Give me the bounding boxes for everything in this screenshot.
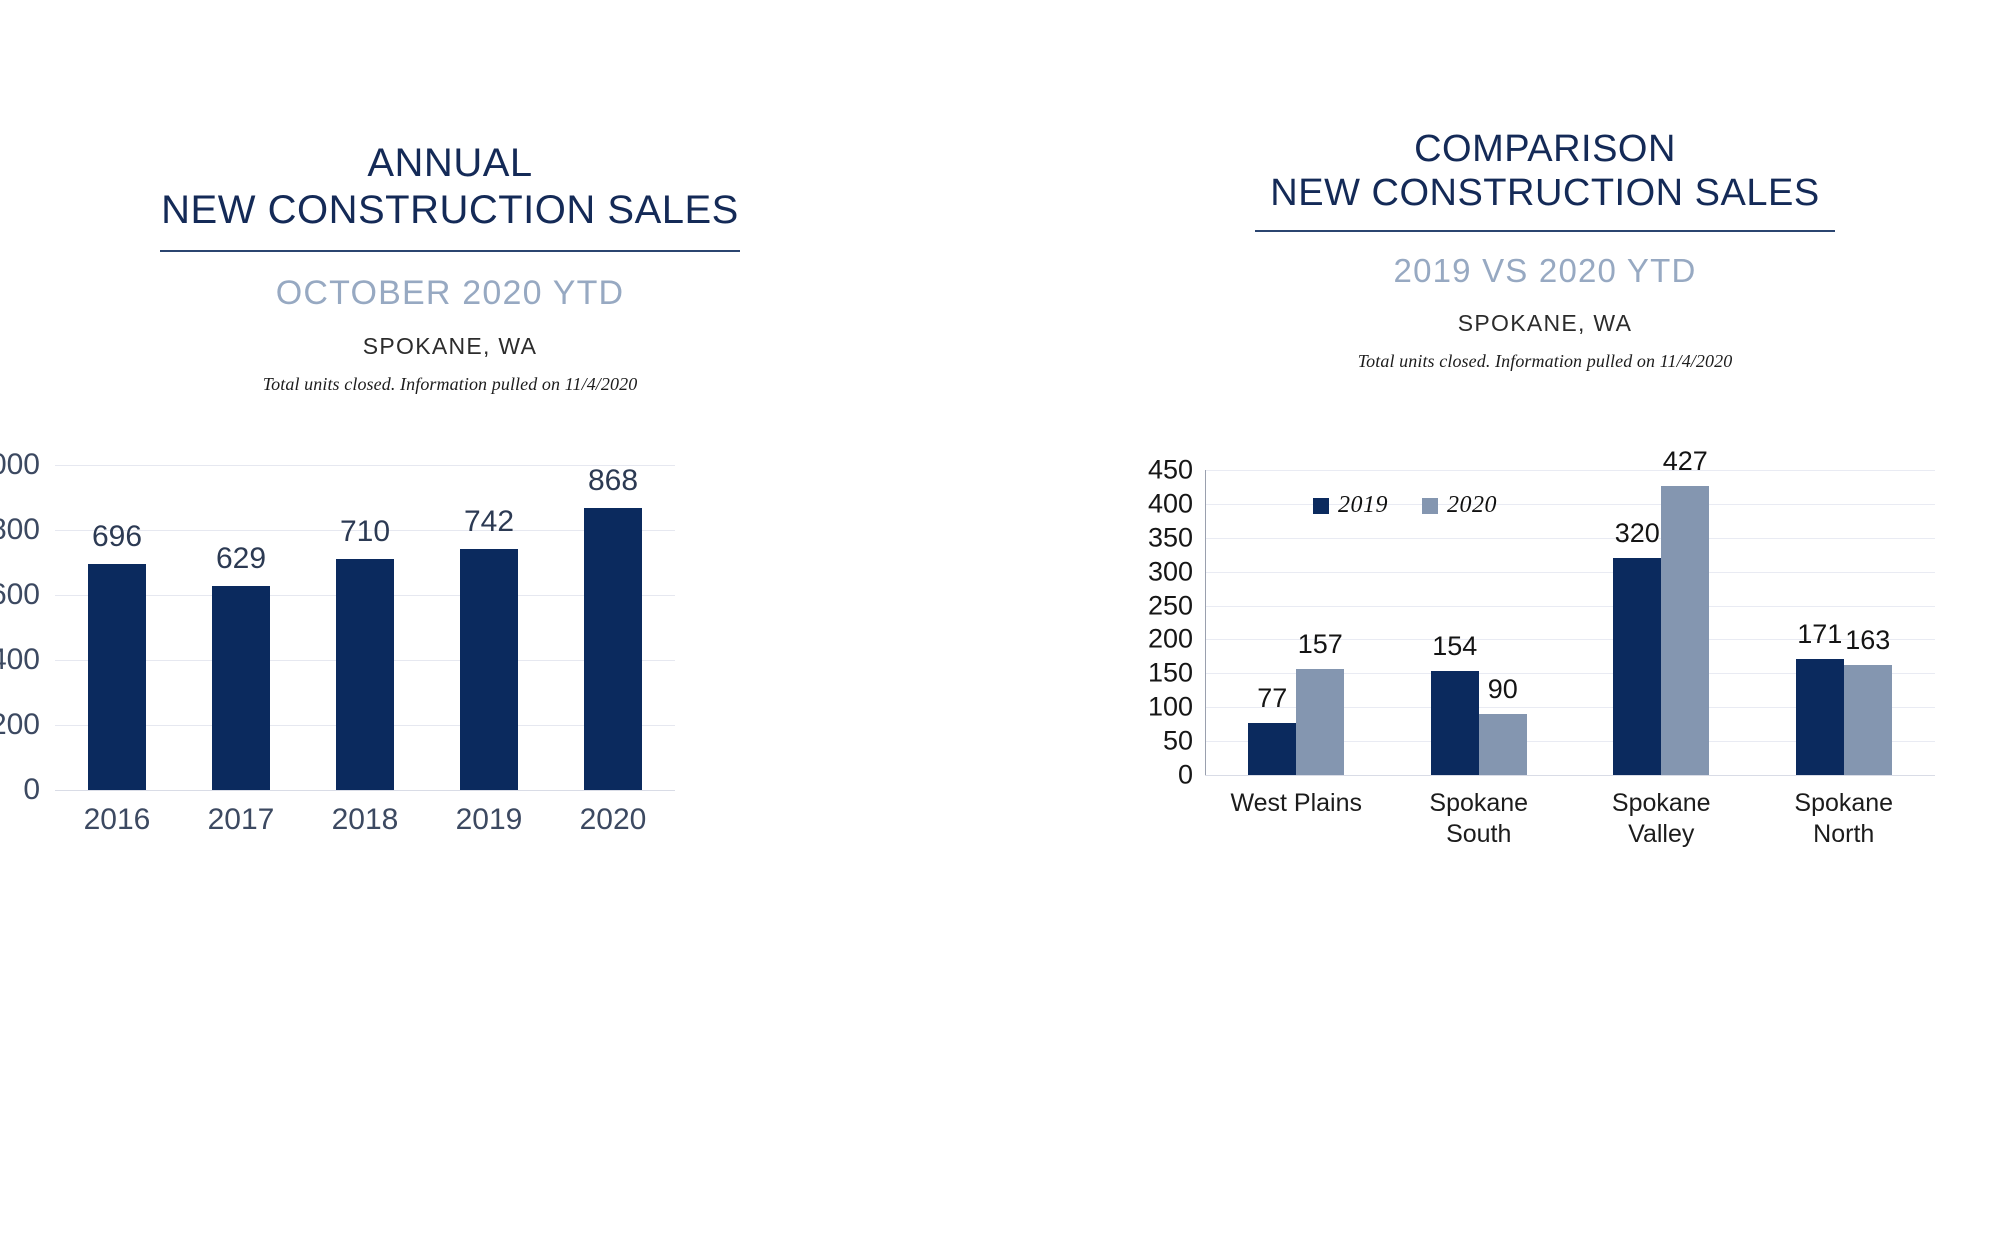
comparison-header: COMPARISON NEW CONSTRUCTION SALES 2019 V… — [1130, 127, 1960, 372]
bar-value-label: 427 — [1625, 446, 1745, 477]
bar-value-label: 868 — [543, 464, 683, 498]
gridline — [1205, 775, 1935, 776]
bar-2019-West-Plains — [1248, 723, 1296, 775]
bar-2019-Spokane-North — [1796, 659, 1844, 775]
y-axis-tick-label: 800 — [0, 513, 40, 547]
x-axis-tick-label: 2016 — [47, 803, 187, 837]
comparison-title: COMPARISON NEW CONSTRUCTION SALES — [1130, 127, 1960, 216]
report-page: ANNUAL NEW CONSTRUCTION SALES OCTOBER 20… — [0, 0, 2000, 1250]
bar-2017 — [212, 586, 270, 790]
bar-value-label: 629 — [171, 542, 311, 576]
bar-2016 — [88, 564, 146, 790]
bar-value-label: 696 — [47, 520, 187, 554]
legend-swatch-icon — [1313, 498, 1329, 514]
comparison-subtitle: 2019 VS 2020 YTD — [1130, 252, 1960, 290]
x-axis-tick-label: 2019 — [419, 803, 559, 837]
x-axis-tick-label: West Plains — [1206, 788, 1386, 819]
y-axis-tick-label: 1,000 — [0, 448, 40, 482]
annual-title-divider — [160, 250, 740, 252]
y-axis-tick-label: 400 — [0, 643, 40, 677]
x-axis-tick-label: SpokaneValley — [1571, 788, 1751, 851]
bar-value-label: 742 — [419, 505, 559, 539]
y-axis-tick-label: 200 — [1113, 624, 1193, 655]
annual-title-line2: NEW CONSTRUCTION SALES — [35, 187, 865, 234]
bar-2020 — [584, 508, 642, 790]
gridline — [55, 790, 675, 791]
x-axis-tick-line: West Plains — [1206, 788, 1386, 819]
legend-item-2020[interactable]: 2020 — [1422, 492, 1497, 519]
annual-bar-chart: 02004006008001,0006962016629201771020187… — [55, 465, 675, 790]
legend-label: 2019 — [1338, 492, 1388, 519]
x-axis-tick-line: Valley — [1571, 819, 1751, 850]
gridline — [1205, 606, 1935, 607]
bar-2019-Spokane-Valley — [1613, 558, 1661, 775]
x-axis-tick-line: Spokane — [1389, 788, 1569, 819]
bar-value-label: 163 — [1808, 625, 1928, 656]
annual-header: ANNUAL NEW CONSTRUCTION SALES OCTOBER 20… — [35, 140, 865, 395]
x-axis-tick-label: SpokaneNorth — [1754, 788, 1934, 851]
gridline — [1205, 470, 1935, 471]
y-axis-tick-label: 400 — [1113, 488, 1193, 519]
bar-2018 — [336, 559, 394, 790]
y-axis-line — [1205, 470, 1206, 775]
panel-annual: ANNUAL NEW CONSTRUCTION SALES OCTOBER 20… — [0, 0, 1000, 1250]
annual-title: ANNUAL NEW CONSTRUCTION SALES — [35, 140, 865, 234]
legend-label: 2020 — [1447, 492, 1497, 519]
y-axis-tick-label: 150 — [1113, 658, 1193, 689]
comparison-city: SPOKANE, WA — [1130, 310, 1960, 337]
annual-title-line1: ANNUAL — [35, 140, 865, 187]
x-axis-tick-label: 2020 — [543, 803, 683, 837]
x-axis-tick-line: Spokane — [1754, 788, 1934, 819]
y-axis-tick-label: 450 — [1113, 455, 1193, 486]
bar-value-label: 157 — [1260, 629, 1380, 660]
y-axis-tick-label: 200 — [0, 708, 40, 742]
annual-subtitle: OCTOBER 2020 YTD — [35, 274, 865, 313]
x-axis-tick-line: Spokane — [1571, 788, 1751, 819]
x-axis-tick-line: South — [1389, 819, 1569, 850]
annual-city: SPOKANE, WA — [35, 333, 865, 360]
comparison-title-line2: NEW CONSTRUCTION SALES — [1130, 171, 1960, 215]
comparison-title-line1: COMPARISON — [1130, 127, 1960, 171]
comparison-note: Total units closed. Information pulled o… — [1130, 351, 1960, 372]
y-axis-tick-label: 600 — [0, 578, 40, 612]
y-axis-tick-label: 0 — [0, 773, 40, 807]
annual-note: Total units closed. Information pulled o… — [35, 374, 865, 395]
y-axis-tick-label: 350 — [1113, 522, 1193, 553]
y-axis-tick-label: 0 — [1113, 760, 1193, 791]
y-axis-tick-label: 250 — [1113, 590, 1193, 621]
bar-2020-Spokane-Valley — [1661, 486, 1709, 775]
bar-2020-West-Plains — [1296, 669, 1344, 775]
bar-value-label: 90 — [1443, 674, 1563, 705]
y-axis-tick-label: 50 — [1113, 726, 1193, 757]
x-axis-tick-label: 2017 — [171, 803, 311, 837]
gridline — [1205, 572, 1935, 573]
bar-2020-Spokane-North — [1844, 665, 1892, 775]
x-axis-tick-line: North — [1754, 819, 1934, 850]
bar-value-label: 154 — [1395, 631, 1515, 662]
bar-2020-Spokane-South — [1479, 714, 1527, 775]
comparison-bar-chart: 05010015020025030035040045077157West Pla… — [1205, 470, 1935, 775]
chart-legend: 20192020 — [1313, 492, 1497, 519]
comparison-title-divider — [1255, 230, 1835, 232]
x-axis-tick-label: 2018 — [295, 803, 435, 837]
gridline — [1205, 538, 1935, 539]
x-axis-tick-label: SpokaneSouth — [1389, 788, 1569, 851]
legend-swatch-icon — [1422, 498, 1438, 514]
legend-item-2019[interactable]: 2019 — [1313, 492, 1388, 519]
y-axis-tick-label: 300 — [1113, 556, 1193, 587]
bar-2019 — [460, 549, 518, 790]
bar-value-label: 710 — [295, 515, 435, 549]
y-axis-tick-label: 100 — [1113, 692, 1193, 723]
